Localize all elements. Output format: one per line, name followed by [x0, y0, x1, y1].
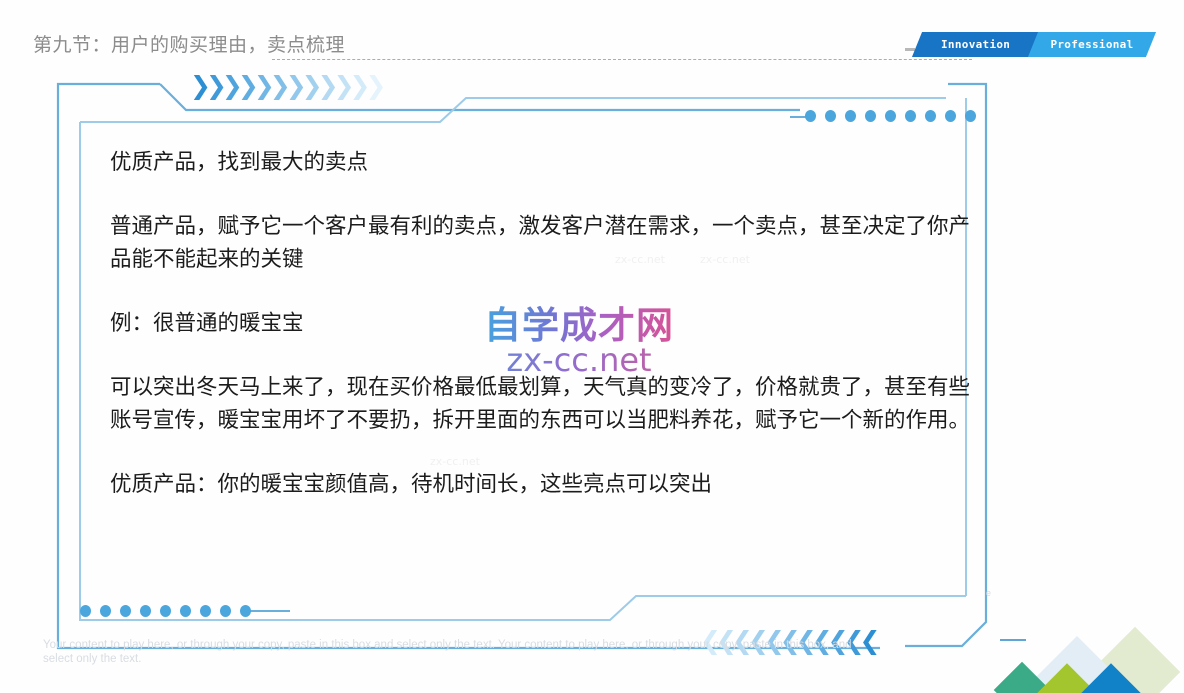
page-title: 第九节：用户的购买理由，卖点梳理	[33, 30, 345, 57]
dot-marker	[200, 605, 211, 617]
dot-marker	[100, 605, 111, 617]
dot-marker	[120, 605, 131, 617]
dot-marker	[865, 110, 876, 122]
dot-marker	[945, 110, 956, 122]
dot-marker	[905, 110, 916, 122]
footer-placeholder-note: Your content to play here, or through yo…	[43, 638, 883, 666]
dot-marker	[805, 110, 816, 122]
frame-mini-mark: e	[986, 588, 991, 598]
dot-marker	[180, 605, 191, 617]
body-paragraph: 可以突出冬天马上来了，现在买价格最低最划算，天气真的变冷了，价格就贵了，甚至有些…	[110, 371, 972, 437]
dot-row-top	[805, 110, 976, 122]
dot-marker	[885, 110, 896, 122]
badge-group: Innovation Professional	[905, 32, 1165, 66]
dot-marker	[220, 605, 231, 617]
slide-canvas: 第九节：用户的购买理由，卖点梳理 Innovation Professional	[0, 0, 1184, 693]
body-paragraph: 优质产品：你的暖宝宝颜值高，待机时间长，这些亮点可以突出	[110, 468, 972, 501]
title-dashed-divider	[272, 59, 972, 60]
dot-row-bottom	[80, 605, 251, 617]
dot-marker	[140, 605, 151, 617]
dot-marker	[80, 605, 91, 617]
badge-label-innovation: Innovation	[941, 39, 1010, 50]
badge-label-professional: Professional	[1049, 39, 1135, 50]
slide-body: 优质产品，找到最大的卖点 普通产品，赋予它一个客户最有利的卖点，激发客户潜在需求…	[110, 146, 972, 501]
chevron-right-icon: ❯	[365, 73, 386, 98]
body-paragraph: 优质产品，找到最大的卖点	[110, 146, 972, 179]
dot-marker	[825, 110, 836, 122]
status-badge-professional: Professional	[1028, 32, 1156, 57]
dot-marker	[160, 605, 171, 617]
dot-marker	[240, 605, 251, 617]
body-paragraph: 普通产品，赋予它一个客户最有利的卖点，激发客户潜在需求，一个卖点，甚至决定了你产…	[110, 210, 972, 276]
dot-marker	[845, 110, 856, 122]
dot-marker	[925, 110, 936, 122]
body-paragraph: 例：很普通的暖宝宝	[110, 307, 972, 340]
status-badge-innovation: Innovation	[912, 32, 1040, 57]
dot-marker	[965, 110, 976, 122]
chevron-right-decoration: ❯ ❯ ❯ ❯ ❯ ❯ ❯ ❯ ❯ ❯ ❯ ❯	[190, 73, 381, 98]
